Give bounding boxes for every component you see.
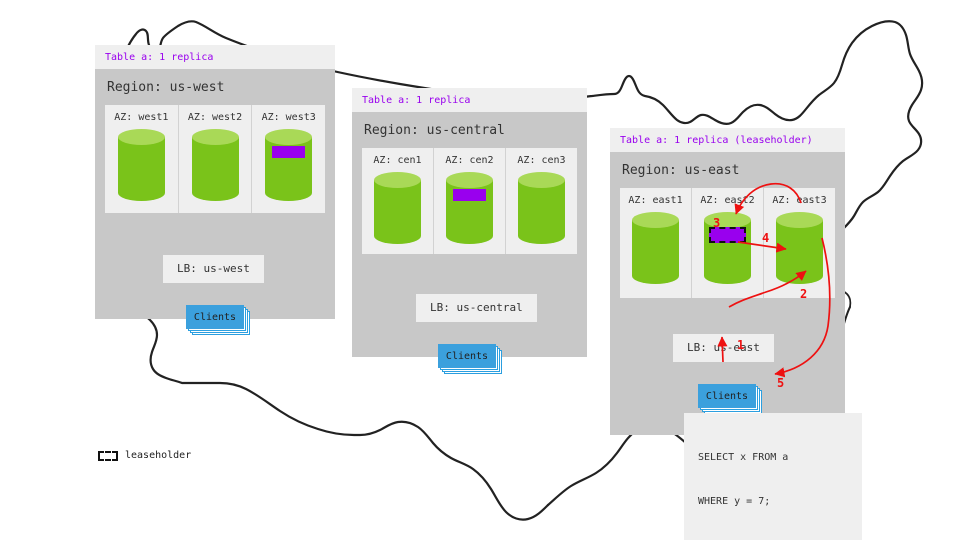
region-us-central: Table a: 1 replica Region: us-central AZ… bbox=[352, 88, 587, 357]
az-cen3[interactable]: AZ: cen3 bbox=[506, 148, 577, 254]
az-west2[interactable]: AZ: west2 bbox=[179, 105, 253, 213]
node-cylinder-icon bbox=[374, 172, 421, 244]
az-label: AZ: cen3 bbox=[517, 155, 565, 166]
node-cylinder-icon bbox=[118, 129, 165, 201]
region-us-east: Table a: 1 replica (leaseholder) Region:… bbox=[610, 128, 845, 435]
node-cylinder-icon bbox=[446, 172, 493, 244]
arrow-label-4: 4 bbox=[762, 231, 769, 245]
region-us-west: Table a: 1 replica Region: us-west AZ: w… bbox=[95, 45, 335, 319]
dashed-rect-icon bbox=[98, 451, 118, 461]
az-label: AZ: east2 bbox=[700, 195, 754, 206]
az-west1[interactable]: AZ: west1 bbox=[105, 105, 179, 213]
clients-label: Clients bbox=[438, 344, 496, 368]
replica-marker-cen2 bbox=[453, 189, 486, 201]
az-label: AZ: cen1 bbox=[373, 155, 421, 166]
load-balancer-us-west[interactable]: LB: us-west bbox=[163, 255, 264, 283]
node-cylinder-icon bbox=[518, 172, 565, 244]
node-cylinder-icon bbox=[265, 129, 312, 201]
clients-us-central[interactable]: Clients bbox=[438, 344, 496, 368]
region-header-us-west: Table a: 1 replica bbox=[95, 45, 335, 69]
az-label: AZ: east1 bbox=[628, 195, 682, 206]
az-row-us-west: AZ: west1 AZ: west2 AZ: west3 bbox=[105, 105, 325, 213]
az-cen1[interactable]: AZ: cen1 bbox=[362, 148, 434, 254]
sql-query-box: SELECT x FROM a WHERE y = 7; bbox=[684, 413, 862, 540]
region-body-us-central: Region: us-central AZ: cen1 AZ: cen2 bbox=[352, 112, 587, 357]
az-east2[interactable]: AZ: east2 bbox=[692, 188, 764, 298]
node-cylinder-icon bbox=[704, 212, 751, 284]
arrow-label-1: 1 bbox=[737, 338, 744, 352]
legend: leaseholder bbox=[98, 450, 191, 461]
legend-label: leaseholder bbox=[125, 450, 191, 461]
load-balancer-us-central[interactable]: LB: us-central bbox=[416, 294, 537, 322]
diagram-canvas: Table a: 1 replica Region: us-west AZ: w… bbox=[0, 0, 960, 540]
clients-label: Clients bbox=[186, 305, 244, 329]
region-header-us-east: Table a: 1 replica (leaseholder) bbox=[610, 128, 845, 152]
load-balancer-us-east[interactable]: LB: us-east bbox=[673, 334, 774, 362]
clients-label: Clients bbox=[698, 384, 756, 408]
sql-line-1: SELECT x FROM a bbox=[698, 451, 848, 466]
replica-marker-west3 bbox=[272, 146, 305, 158]
az-row-us-east: AZ: east1 AZ: east2 AZ: east3 bbox=[620, 188, 835, 298]
node-cylinder-icon bbox=[632, 212, 679, 284]
region-header-us-central: Table a: 1 replica bbox=[352, 88, 587, 112]
region-body-us-west: Region: us-west AZ: west1 AZ: west2 AZ: … bbox=[95, 69, 335, 319]
az-row-us-central: AZ: cen1 AZ: cen2 AZ: cen3 bbox=[362, 148, 577, 254]
az-cen2[interactable]: AZ: cen2 bbox=[434, 148, 506, 254]
az-east1[interactable]: AZ: east1 bbox=[620, 188, 692, 298]
az-label: AZ: west2 bbox=[188, 112, 242, 123]
clients-us-east[interactable]: Clients bbox=[698, 384, 756, 408]
clients-us-west[interactable]: Clients bbox=[186, 305, 244, 329]
sql-line-2: WHERE y = 7; bbox=[698, 495, 848, 510]
node-cylinder-icon bbox=[776, 212, 823, 284]
az-east3[interactable]: AZ: east3 bbox=[764, 188, 835, 298]
region-body-us-east: Region: us-east AZ: east1 AZ: east2 bbox=[610, 152, 845, 435]
az-label: AZ: east3 bbox=[772, 195, 826, 206]
az-label: AZ: west1 bbox=[114, 112, 168, 123]
arrow-label-3: 3 bbox=[713, 216, 720, 230]
region-title-us-west: Region: us-west bbox=[95, 69, 335, 105]
az-label: AZ: cen2 bbox=[445, 155, 493, 166]
arrow-label-2: 2 bbox=[800, 287, 807, 301]
region-title-us-central: Region: us-central bbox=[352, 112, 587, 148]
az-west3[interactable]: AZ: west3 bbox=[252, 105, 325, 213]
az-label: AZ: west3 bbox=[262, 112, 316, 123]
region-title-us-east: Region: us-east bbox=[610, 152, 845, 188]
arrow-label-5: 5 bbox=[777, 376, 784, 390]
node-cylinder-icon bbox=[192, 129, 239, 201]
